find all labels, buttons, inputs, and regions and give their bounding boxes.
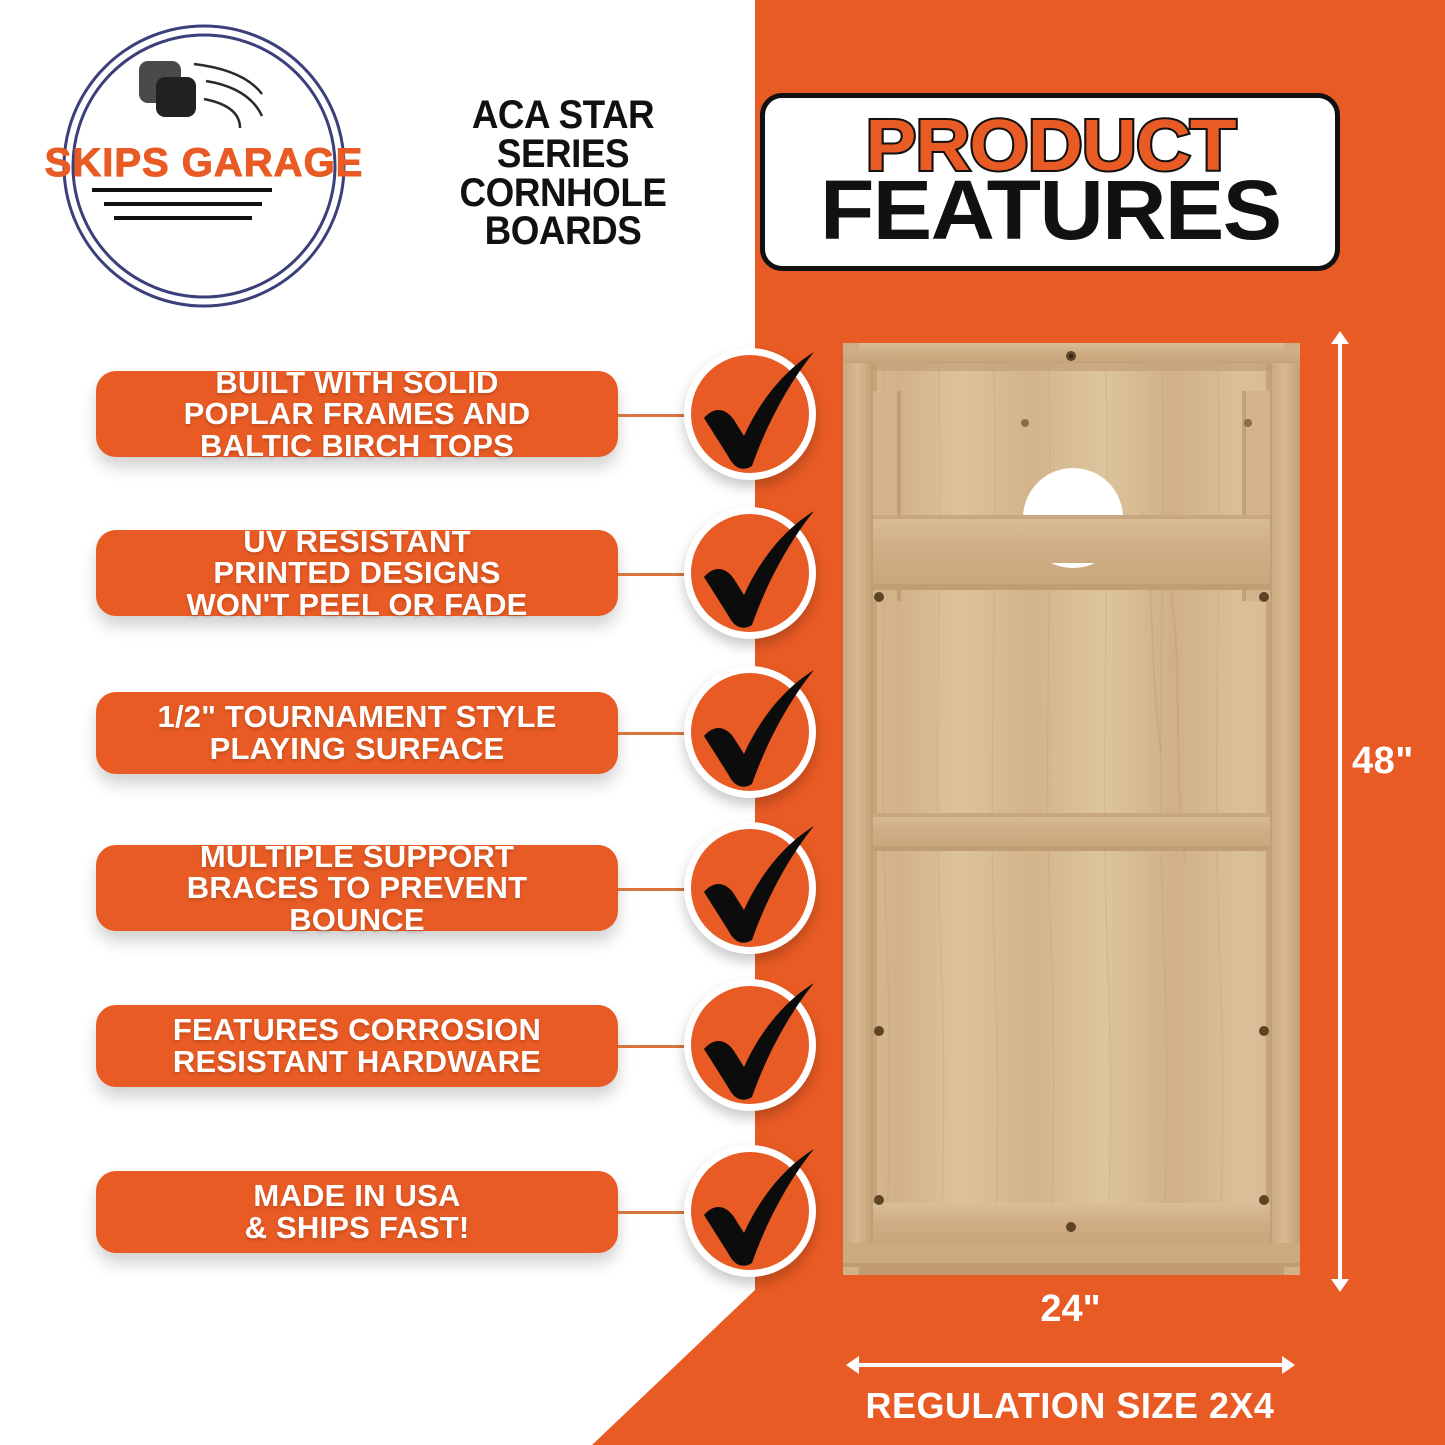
width-dimension-label: 24" <box>858 1288 1283 1331</box>
regulation-size-label: REGULATION SIZE 2X4 <box>820 1385 1320 1427</box>
title-line-3: CORNHOLE <box>411 174 715 213</box>
feature-line: FEATURES CORROSION <box>118 1014 596 1046</box>
svg-text:SKIPS GARAGE: SKIPS GARAGE <box>45 141 364 185</box>
feature-line: BRACES TO PREVENT <box>118 872 596 904</box>
check-badge-6 <box>684 1145 816 1277</box>
feature-line: RESISTANT HARDWARE <box>118 1046 596 1078</box>
feature-line: 1/2" TOURNAMENT STYLE <box>118 701 596 733</box>
width-dimension-arrow <box>858 1363 1283 1367</box>
feature-line: MADE IN USA <box>118 1180 596 1212</box>
check-badge-1 <box>684 348 816 480</box>
height-dimension-arrow <box>1338 343 1342 1280</box>
feature-line: BALTIC BIRCH TOPS <box>118 430 596 462</box>
connector-line-5 <box>618 1045 686 1048</box>
check-badge-2 <box>684 507 816 639</box>
title-line-4: BOARDS <box>411 212 715 251</box>
title-line-2: SERIES <box>411 135 715 174</box>
check-badge-5 <box>684 979 816 1111</box>
feature-line: UV RESISTANT <box>118 526 596 558</box>
feature-line: PRINTED DESIGNS <box>118 557 596 589</box>
product-features-banner: PRODUCT FEATURES <box>760 93 1340 271</box>
title-line-1: ACA STAR <box>411 96 715 135</box>
check-badge-3 <box>684 666 816 798</box>
banner-word-features: FEATURES <box>820 174 1281 248</box>
feature-line: MULTIPLE SUPPORT <box>118 841 596 873</box>
feature-line: BOUNCE <box>118 904 596 936</box>
feature-pill-uv-resistant-designs[interactable]: UV RESISTANT PRINTED DESIGNS WON'T PEEL … <box>96 530 618 616</box>
infographic-canvas: SKIPS GARAGE ACA STAR SERIES CORNHOLE BO… <box>0 0 1445 1445</box>
feature-line: BUILT WITH SOLID <box>118 367 596 399</box>
connector-line-6 <box>618 1211 686 1214</box>
cornhole-board-back-view <box>843 343 1300 1275</box>
connector-line-3 <box>618 732 686 735</box>
feature-line: POPLAR FRAMES AND <box>118 398 596 430</box>
feature-pill-corrosion-resistant-hardware[interactable]: FEATURES CORROSION RESISTANT HARDWARE <box>96 1005 618 1087</box>
connector-line-1 <box>618 414 686 417</box>
check-badge-4 <box>684 822 816 954</box>
skips-garage-logo: SKIPS GARAGE <box>44 16 364 316</box>
feature-pill-tournament-playing-surface[interactable]: 1/2" TOURNAMENT STYLE PLAYING SURFACE <box>96 692 618 774</box>
height-dimension-label: 48" <box>1352 740 1414 783</box>
page-title: ACA STAR SERIES CORNHOLE BOARDS <box>411 96 715 251</box>
feature-pill-solid-poplar-frames[interactable]: BUILT WITH SOLID POPLAR FRAMES AND BALTI… <box>96 371 618 457</box>
connector-line-2 <box>618 573 686 576</box>
feature-line: WON'T PEEL OR FADE <box>118 589 596 621</box>
feature-pill-made-in-usa[interactable]: MADE IN USA & SHIPS FAST! <box>96 1171 618 1253</box>
feature-pill-support-braces[interactable]: MULTIPLE SUPPORT BRACES TO PREVENT BOUNC… <box>96 845 618 931</box>
feature-line: & SHIPS FAST! <box>118 1212 596 1244</box>
feature-line: PLAYING SURFACE <box>118 733 596 765</box>
connector-line-4 <box>618 888 686 891</box>
